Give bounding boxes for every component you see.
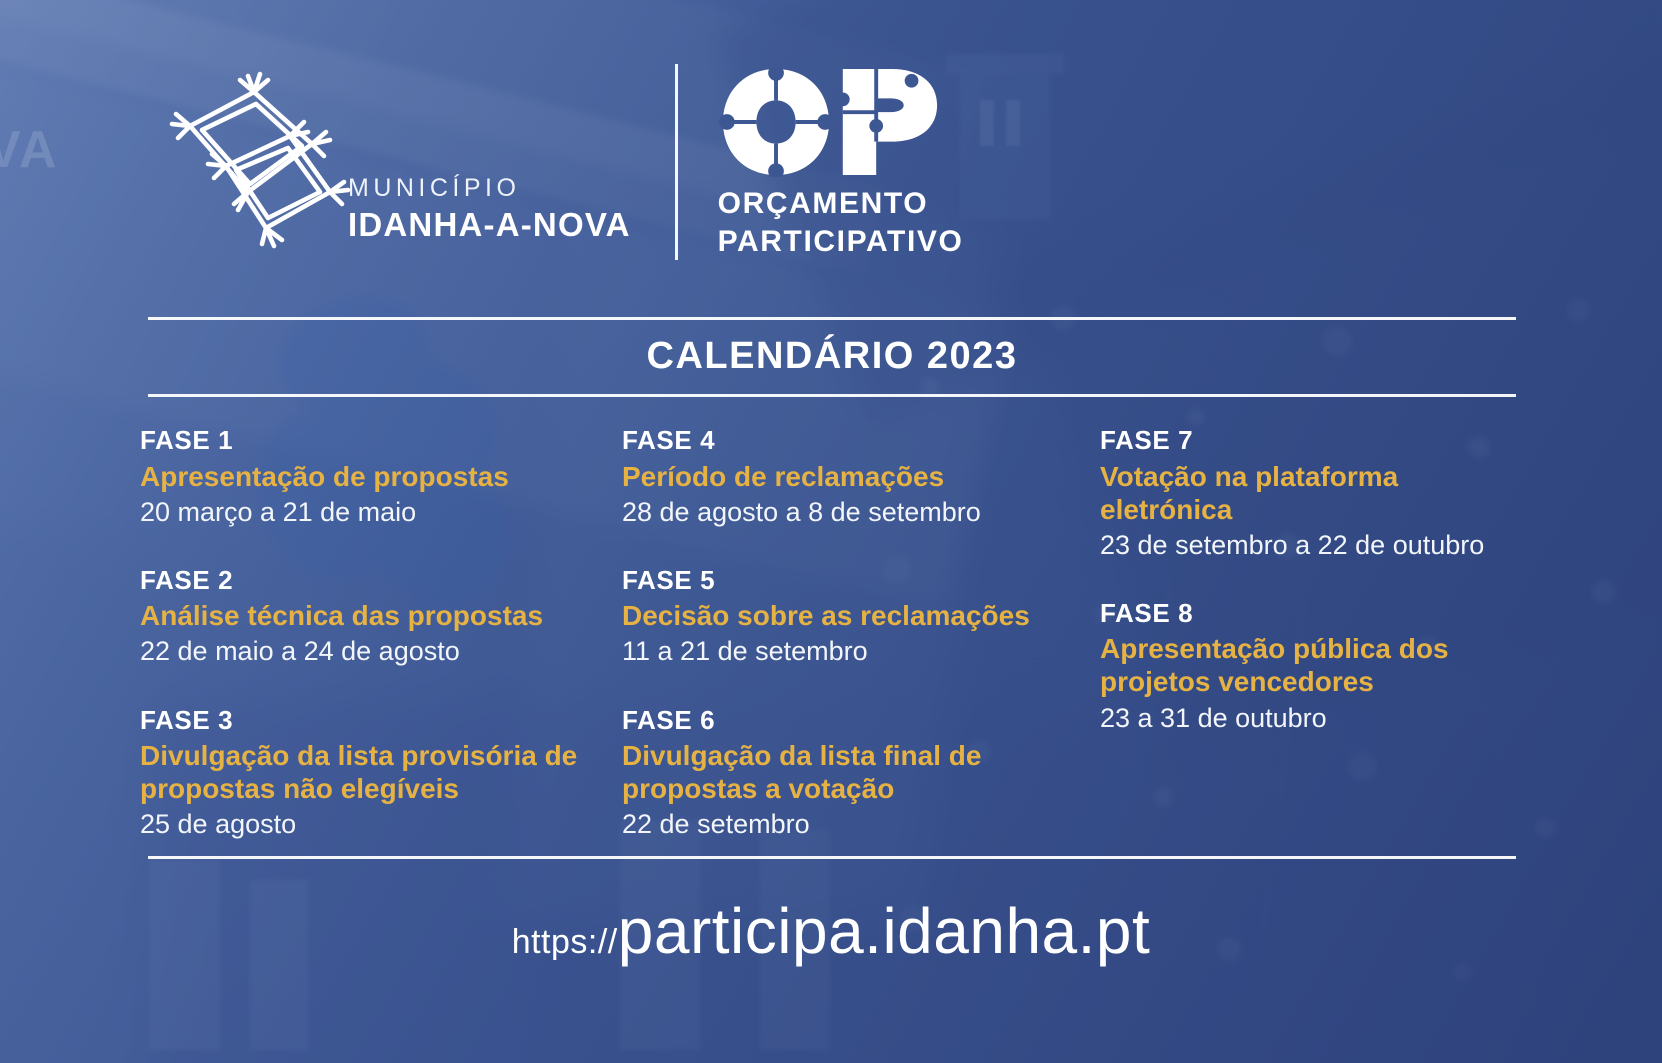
phase-item: FASE 8 Apresentação pública dos projetos… [1100,597,1520,734]
phase-title: Período de reclamações [622,460,1100,493]
phase-label: FASE 8 [1100,597,1520,630]
municipality-label: MUNICÍPIO [348,175,631,203]
phase-label: FASE 3 [140,704,622,737]
phase-item: FASE 6 Divulgação da lista final de prop… [622,704,1100,841]
phase-column-1: FASE 1 Apresentação de propostas 20 març… [140,424,622,841]
phase-date: 11 a 21 de setembro [622,635,1100,667]
phase-label: FASE 6 [622,704,1100,737]
phase-date: 23 de setembro a 22 de outubro [1100,529,1520,561]
op-subtitle-line2: PARTICIPATIVO [718,223,964,261]
header: MUNICÍPIO IDANHA-A-NOVA [148,62,963,262]
phase-date: 25 de agosto [140,808,622,840]
phase-column-2: FASE 4 Período de reclamações 28 de agos… [622,424,1100,841]
phase-label: FASE 7 [1100,424,1520,457]
phase-columns: FASE 1 Apresentação de propostas 20 març… [140,424,1520,841]
phase-item: FASE 4 Período de reclamações 28 de agos… [622,424,1100,528]
phase-item: FASE 5 Decisão sobre as reclamações 11 a… [622,564,1100,668]
municipality-wordmark: MUNICÍPIO IDANHA-A-NOVA [348,175,631,244]
phase-title: Votação na plataforma eletrónica [1100,460,1520,526]
phase-title: Decisão sobre as reclamações [622,599,1100,632]
municipal-crest-icon [162,70,362,255]
phase-item: FASE 2 Análise técnica das propostas 22 … [140,564,622,668]
site-url[interactable]: https://participa.idanha.pt [0,894,1662,968]
phase-label: FASE 1 [140,424,622,457]
phase-date: 23 a 31 de outubro [1100,702,1520,734]
municipality-name: IDANHA-A-NOVA [348,205,631,245]
phase-label: FASE 4 [622,424,1100,457]
phase-date: 28 de agosto a 8 de setembro [622,496,1100,528]
divider-top [148,317,1516,320]
page-title: CALENDÁRIO 2023 [148,335,1516,378]
phase-title: Divulgação da lista final de propostas a… [622,739,1100,805]
op-puzzle-logo-icon [718,67,964,177]
phase-date: 22 de setembro [622,808,1100,840]
poster-content: MUNICÍPIO IDANHA-A-NOVA [0,0,1662,1063]
phase-label: FASE 2 [140,564,622,597]
phase-column-3: FASE 7 Votação na plataforma eletrónica … [1100,424,1520,841]
op-subtitle-line1: ORÇAMENTO [718,185,964,223]
poster-canvas: VA [0,0,1662,1063]
divider-bottom [148,856,1516,859]
phase-date: 20 março a 21 de maio [140,496,622,528]
phase-item: FASE 7 Votação na plataforma eletrónica … [1100,424,1520,561]
divider-middle [148,394,1516,397]
phase-title: Divulgação da lista provisória de propos… [140,739,622,805]
url-host: participa.idanha.pt [618,895,1151,967]
phase-title: Apresentação pública dos projetos venced… [1100,632,1520,698]
op-logo-block: ORÇAMENTO PARTICIPATIVO [718,67,964,262]
header-divider [675,64,678,260]
phase-item: FASE 3 Divulgação da lista provisória de… [140,704,622,841]
phase-label: FASE 5 [622,564,1100,597]
phase-title: Apresentação de propostas [140,460,622,493]
phase-title: Análise técnica das propostas [140,599,622,632]
phase-item: FASE 1 Apresentação de propostas 20 març… [140,424,622,528]
url-scheme: https:// [512,923,618,961]
phase-date: 22 de maio a 24 de agosto [140,635,622,667]
